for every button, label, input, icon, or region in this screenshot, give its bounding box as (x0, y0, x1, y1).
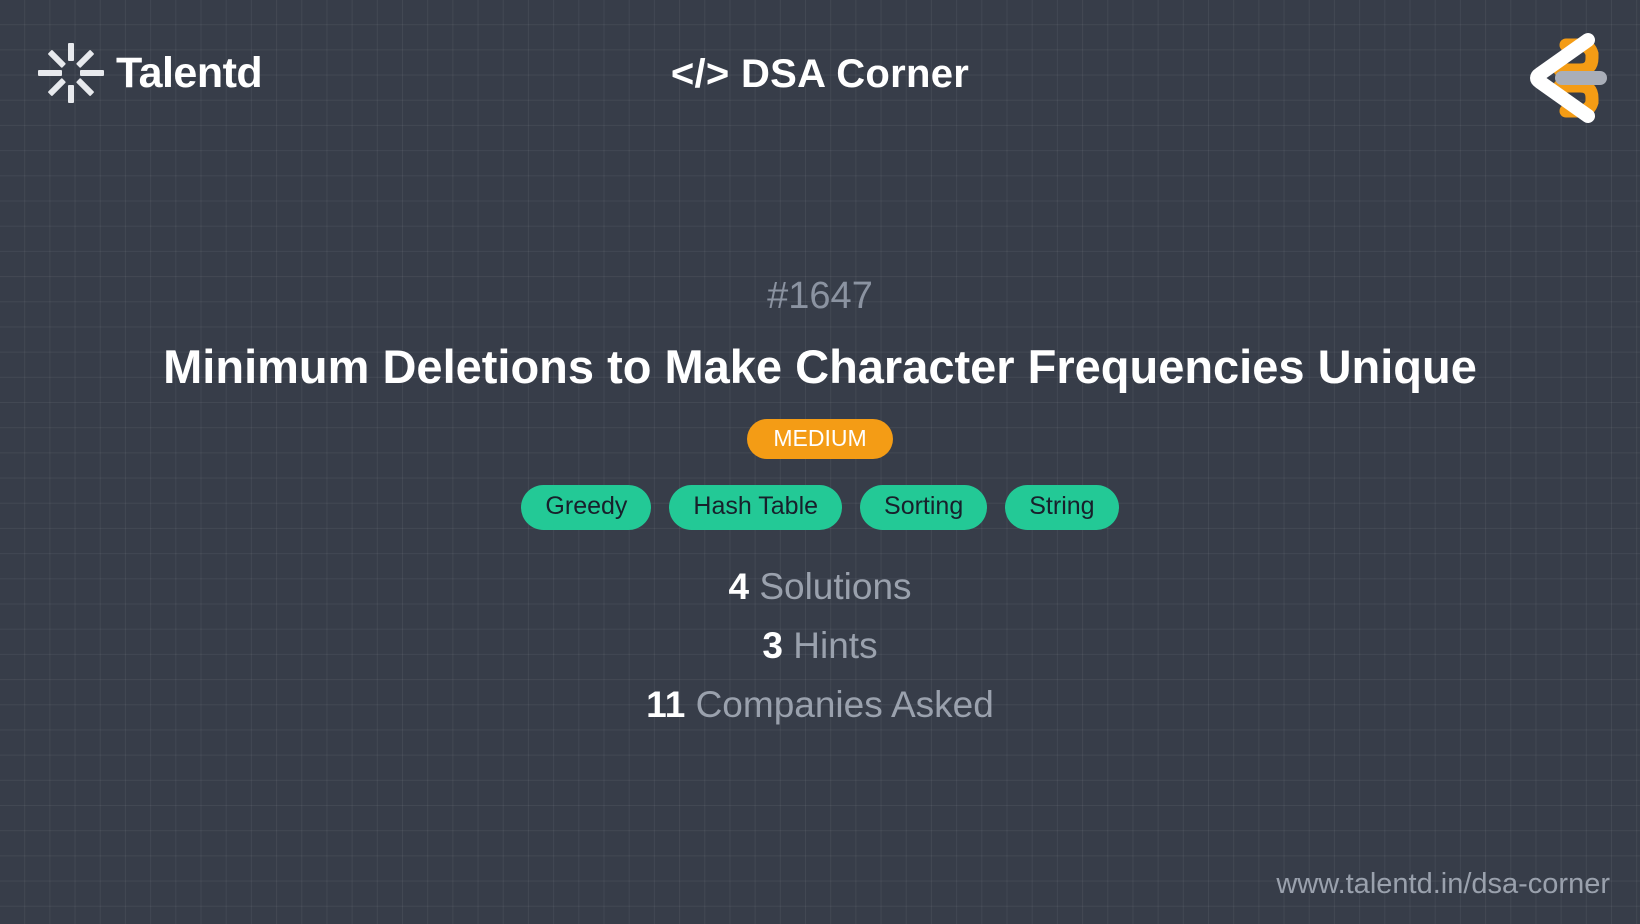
stat-count: 11 (646, 684, 685, 725)
stats-list: 4 Solutions 3 Hints 11 Companies Asked (646, 568, 994, 723)
stat-label: Hints (793, 625, 877, 666)
topic-tag[interactable]: String (1005, 485, 1118, 530)
stat-count: 4 (728, 566, 749, 607)
stat-count: 3 (762, 625, 783, 666)
problem-title: Minimum Deletions to Make Character Freq… (163, 341, 1477, 393)
problem-number: #1647 (767, 277, 873, 315)
topic-tag[interactable]: Hash Table (669, 485, 842, 530)
stat-companies-asked: 11 Companies Asked (646, 686, 994, 723)
topic-tag[interactable]: Sorting (860, 485, 987, 530)
slide-canvas: Talentd </> DSA Corner #1647 Minimum Del… (0, 0, 1640, 924)
topic-tag-list: Greedy Hash Table Sorting String (521, 485, 1118, 530)
topic-tag[interactable]: Greedy (521, 485, 651, 530)
status-badge-difficulty: MEDIUM (747, 419, 892, 459)
header-bar: Talentd </> DSA Corner (0, 0, 1640, 150)
problem-card: #1647 Minimum Deletions to Make Characte… (0, 150, 1640, 850)
page-title: </> DSA Corner (0, 52, 1640, 97)
stat-solutions: 4 Solutions (728, 568, 911, 605)
footer-url[interactable]: www.talentd.in/dsa-corner (1276, 870, 1610, 899)
stat-hints: 3 Hints (762, 627, 877, 664)
talentd-chevron-logo-icon (1504, 24, 1624, 132)
stat-label: Companies Asked (696, 684, 994, 725)
stat-label: Solutions (759, 566, 911, 607)
